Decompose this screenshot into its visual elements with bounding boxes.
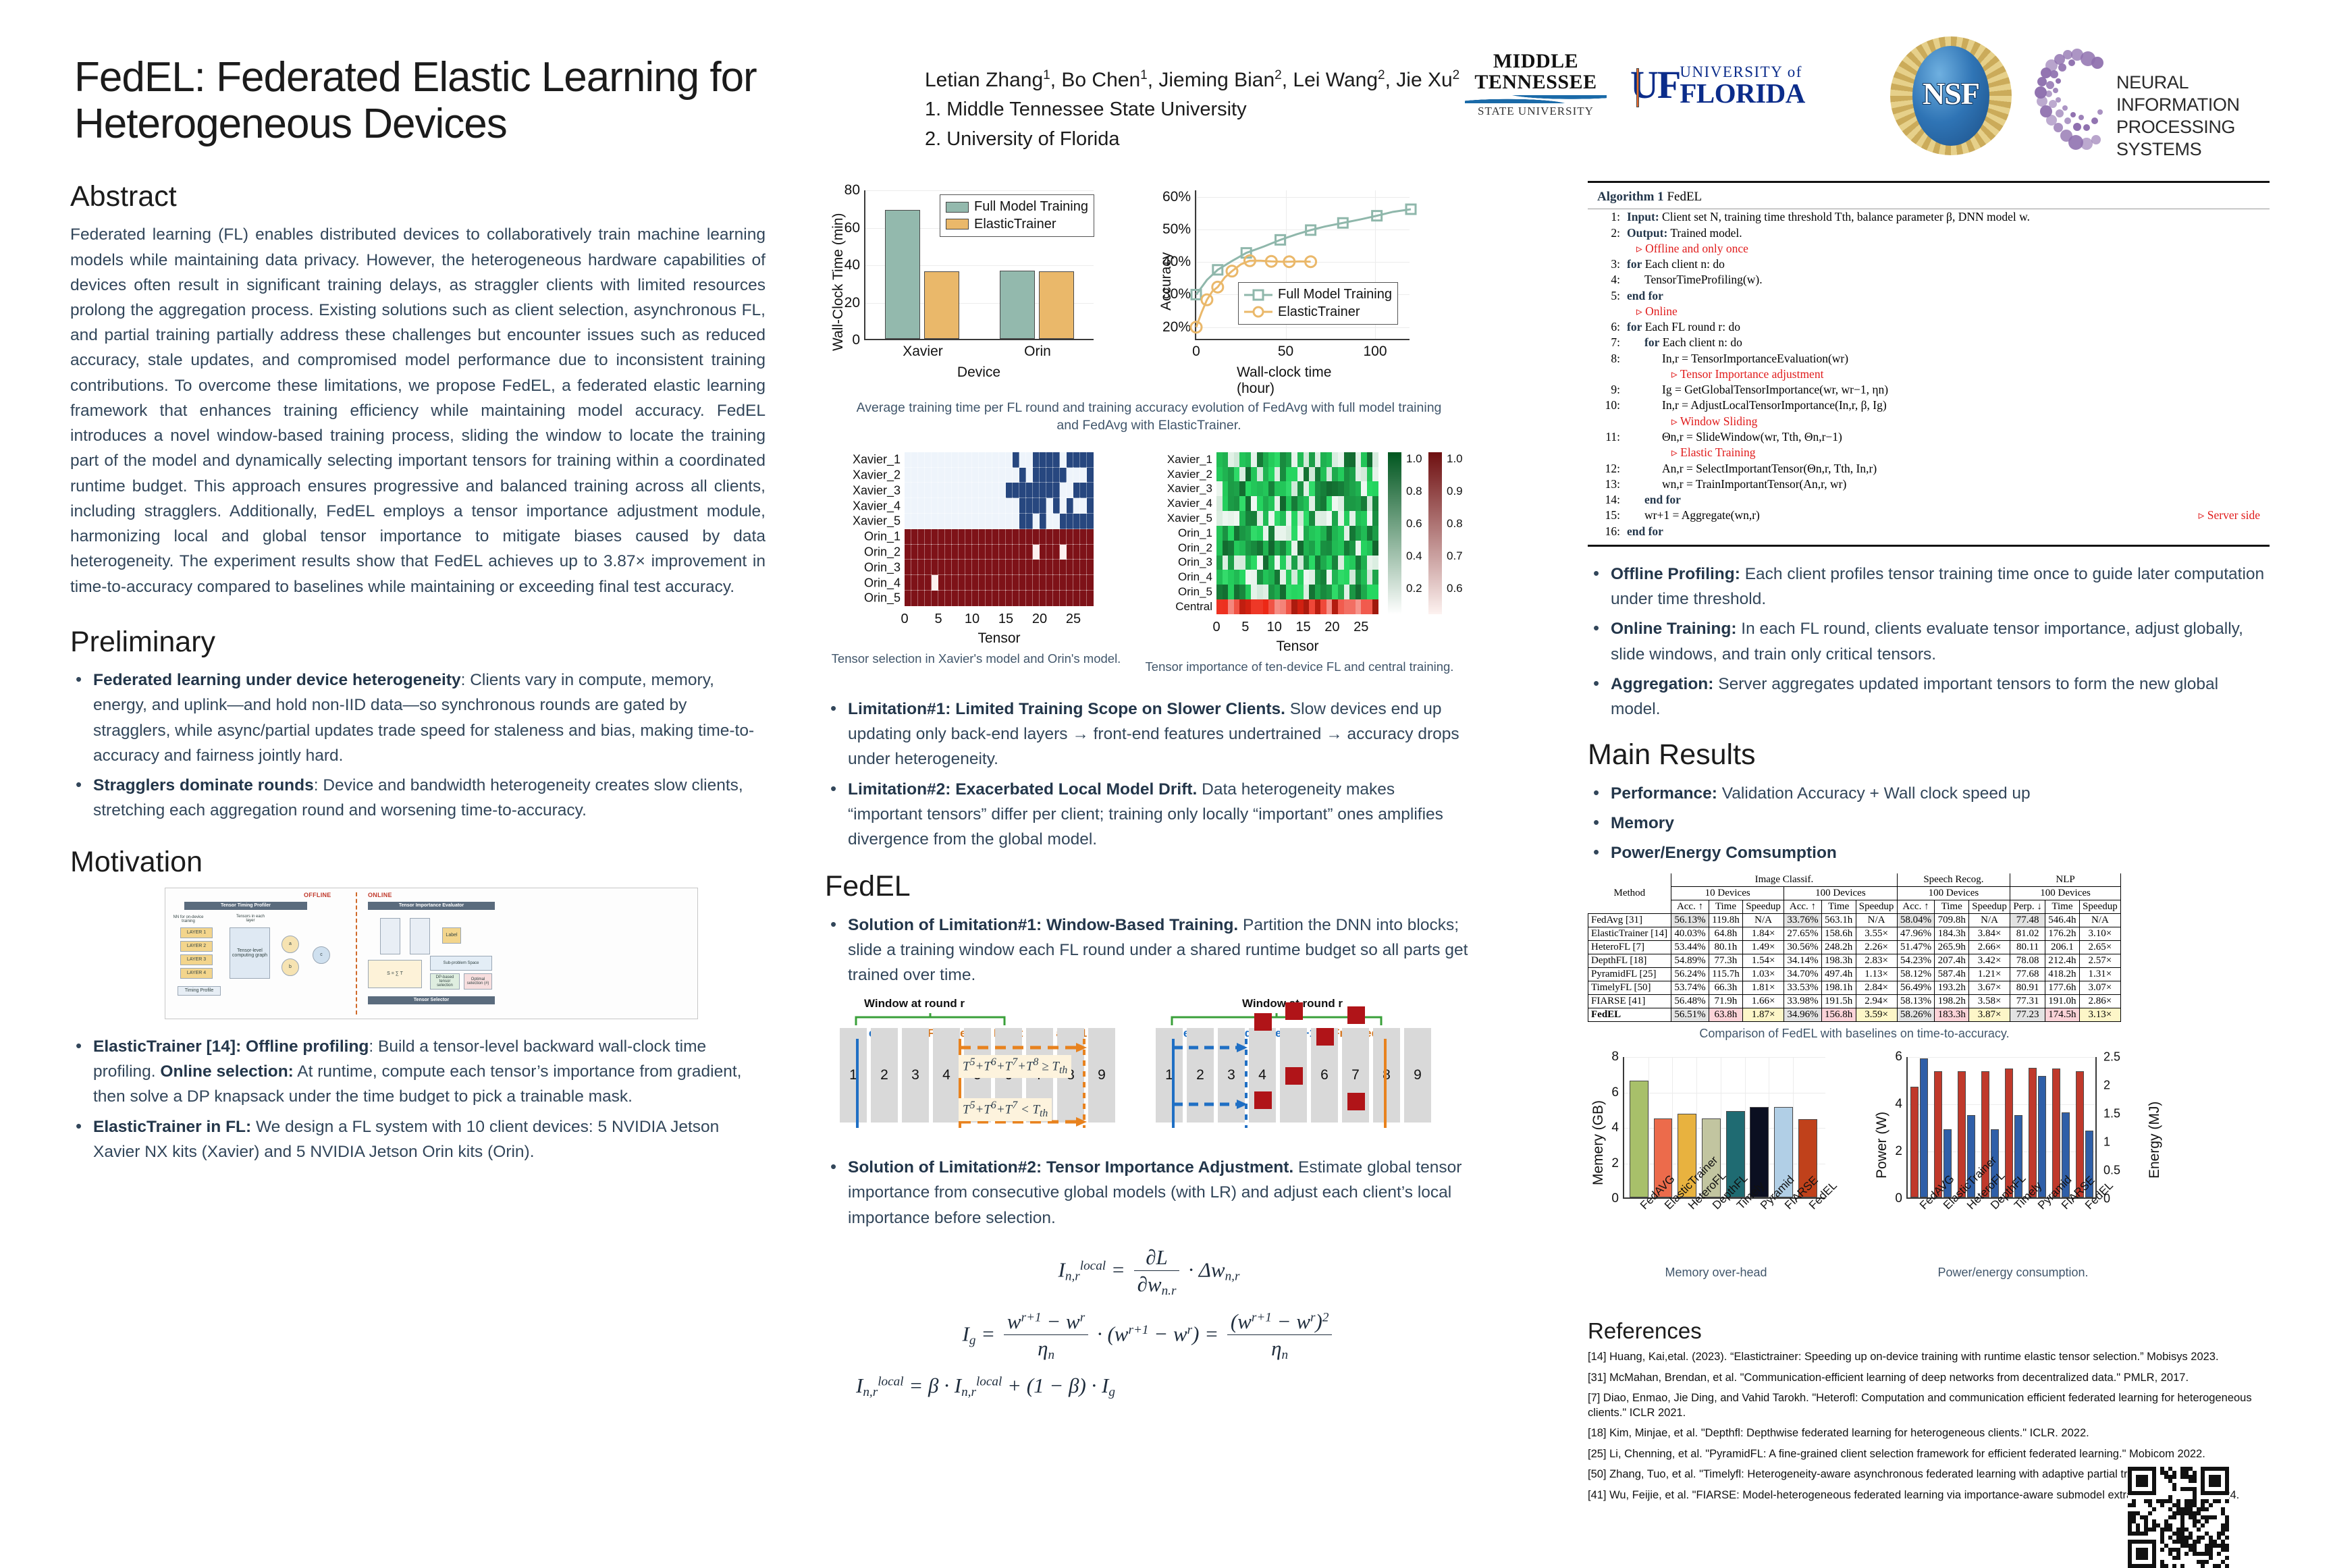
heatmap-cell [952, 514, 959, 529]
heatmap-cell [938, 514, 945, 529]
heatmap-cell [1080, 545, 1087, 560]
table-cell: 1.81× [1742, 981, 1784, 995]
heatmap-cell [1263, 481, 1269, 496]
colorbar-tick: 0.6 [1406, 517, 1422, 531]
table-cell: 34.96% [1784, 1008, 1822, 1022]
bullet-lead: ElasticTrainer in FL: [93, 1118, 251, 1136]
heatmap-cell [1234, 526, 1240, 541]
y-axis-tick: 8 [1611, 1050, 1619, 1064]
heatmap-cell [1332, 481, 1338, 496]
heatmap-row-label: Orin_3 [829, 560, 901, 574]
heatmap-cell [1263, 570, 1269, 585]
heatmap-cell [1013, 468, 1019, 483]
table-cell: 34.14% [1784, 954, 1822, 968]
table-metric-header: Acc. ↑ [1671, 900, 1709, 914]
heatmap-cell [1338, 585, 1344, 599]
table-cell: 64.8h [1709, 927, 1742, 941]
figure-online-label: ONLINE [368, 892, 392, 898]
heatmap-cell [952, 483, 959, 498]
heatmap-cell [932, 591, 938, 606]
heatmap-cell [1006, 452, 1013, 468]
table-cell: 198.2h [1935, 995, 1969, 1008]
heatmap-cell [1251, 511, 1257, 526]
algorithm-line-number: 4: [1597, 272, 1620, 288]
heatmap-cell [1304, 511, 1310, 526]
equation-block: In,rlocal = ∂L∂wn.r · Δwn,r Ig = wr+1 − … [825, 1245, 1473, 1399]
heatmap-cell [1087, 468, 1094, 483]
heatmap-cell [1019, 545, 1026, 560]
figure-layer-box: LAYER 2 [180, 941, 213, 952]
heatmap-cell [1263, 452, 1269, 467]
heatmap-cell [918, 545, 925, 560]
chart-y-label-left: Power (W) [1874, 1112, 1890, 1179]
table-cell: 156.8h [1821, 1008, 1856, 1022]
x-axis-tick: 0 [1192, 344, 1200, 360]
heatmap-cell [1275, 481, 1281, 496]
heatmap-cell [1019, 591, 1026, 606]
heatmap-cell [1344, 599, 1350, 614]
fedel-solution-2: Solution of Limitation#2: Tensor Importa… [825, 1155, 1473, 1231]
heatmap-cell [1026, 575, 1033, 591]
heatmap-cell [1060, 514, 1067, 529]
heatmap-row-label: Orin_4 [829, 576, 901, 590]
heatmap-cell [979, 468, 986, 483]
heatmap-cell [1046, 468, 1053, 483]
heatmap-cell [911, 560, 918, 575]
heatmap-cell [1026, 514, 1033, 529]
chart-x-label: Tensor [1276, 639, 1318, 655]
heatmap-cell [952, 560, 959, 575]
table-cell: 81.02 [2010, 927, 2045, 941]
preliminary-heading: Preliminary [70, 626, 766, 658]
y-axis-tick: 2 [1611, 1156, 1619, 1171]
heatmap-cell [932, 498, 938, 514]
heatmap-cell [1372, 570, 1378, 585]
algorithm-title-rest: FedEL [1667, 190, 1702, 204]
heatmap-cell [1361, 526, 1367, 541]
y-axis-tick: 20 [844, 295, 860, 311]
heatmap-cell [1080, 591, 1087, 606]
window-block: 2 [871, 1028, 898, 1123]
heatmap-cell [965, 529, 972, 545]
heatmap-cell [1291, 541, 1297, 556]
heatmap-cell [1361, 585, 1367, 599]
heatmap-cell [1315, 526, 1321, 541]
heatmap-cell [1349, 599, 1356, 614]
heatmap-cell [1053, 529, 1060, 545]
heatmap-cell [1228, 570, 1234, 585]
x-axis-tick: 0 [901, 612, 908, 627]
bar-power [1910, 1087, 1919, 1198]
heatmap-cell [1040, 591, 1046, 606]
table-metric-header: Time [1709, 900, 1742, 914]
heatmap-cell [1073, 545, 1080, 560]
heatmap-cell [992, 545, 999, 560]
heatmap-cell [925, 591, 932, 606]
list-item: Offline Profiling: Each client profiles … [1588, 562, 2270, 612]
heatmap-cell [1053, 498, 1060, 514]
heatmap-cell [1361, 570, 1367, 585]
figure-node-circle: c [313, 946, 330, 964]
heatmap-row-label: Xavier_3 [829, 483, 901, 497]
heatmap-cell [986, 545, 992, 560]
heatmap-cell [959, 498, 965, 514]
heatmap-cell [1349, 511, 1356, 526]
heatmap-cell [1239, 585, 1245, 599]
heatmap-cell [1053, 591, 1060, 606]
list-item: Limitation#1: Limited Training Scope on … [825, 697, 1473, 772]
heatmap-cell [1326, 467, 1333, 482]
list-item: Power/Energy Comsumption [1588, 840, 2270, 865]
algorithm-line-number: 3: [1597, 256, 1620, 272]
heatmap-cell [1263, 541, 1269, 556]
heatmap-cell [1275, 511, 1281, 526]
table-cell: 77.48 [2010, 914, 2045, 927]
algorithm-keyword: for [1627, 320, 1642, 333]
heatmap-cell [1286, 511, 1292, 526]
heatmap-cell [1073, 529, 1080, 545]
table-cell: 53.44% [1671, 941, 1709, 954]
heatmap-cell [1304, 556, 1310, 570]
heatmap-cell [1268, 585, 1275, 599]
heatmap-cell [1013, 545, 1019, 560]
table-cell: 40.03% [1671, 927, 1709, 941]
table-cell: 115.7h [1709, 968, 1742, 981]
legend-item: Full Model Training [946, 198, 1088, 216]
heatmap-cell [1080, 575, 1087, 591]
heatmap-cell [1326, 599, 1333, 614]
heatmap-cell [1361, 599, 1367, 614]
heatmap-cell [1286, 496, 1292, 511]
table-cell: 418.2h [2045, 968, 2080, 981]
figure-box-tensor-selector: Tensor Selector [368, 996, 495, 1004]
heatmap-cell [1073, 498, 1080, 514]
uf-line-2: FLORIDA [1680, 81, 1805, 107]
y-axis-tick: 0 [1611, 1191, 1619, 1206]
table-metric-header: Time [1935, 900, 1969, 914]
memory-chart-caption: Memory over-head [1588, 1265, 1844, 1281]
nsf-wordmark: NSF [1890, 76, 2012, 111]
heatmap-cell [1251, 481, 1257, 496]
table-group-header: Speech Recog. [1897, 873, 2010, 887]
table-cell: 191.0h [2045, 995, 2080, 1008]
bar [1000, 271, 1035, 339]
heatmap-cell [1297, 481, 1304, 496]
list-item: Limitation#2: Exacerbated Local Model Dr… [825, 777, 1473, 853]
heatmap-cell [1234, 496, 1240, 511]
heatmap-cell [1309, 541, 1315, 556]
heatmap-cell [952, 498, 959, 514]
heatmap-cell [1338, 556, 1344, 570]
heatmap-cell [1087, 483, 1094, 498]
legend-swatch [946, 202, 969, 213]
heatmap-cell [1326, 496, 1333, 511]
heatmap-cell [1356, 541, 1362, 556]
heatmap-cell [1280, 541, 1286, 556]
heatmap-cell [905, 514, 911, 529]
heatmap-cell [1361, 556, 1367, 570]
heatmap-cell [1297, 541, 1304, 556]
table-cell: 212.4h [2045, 954, 2080, 968]
table-metric-header: Speedup [1969, 900, 2010, 914]
figure-nn-stack [380, 918, 400, 954]
heatmap-cell [1297, 452, 1304, 467]
heatmap-cell [1040, 545, 1046, 560]
table-device-header: 100 Devices [2010, 887, 2121, 900]
table-cell: 77.3h [1709, 954, 1742, 968]
heatmap-cell [1257, 452, 1263, 467]
heatmap-cell [911, 514, 918, 529]
heatmap-cell [1372, 467, 1378, 482]
heatmap-cell [1349, 585, 1356, 599]
bar [1630, 1081, 1648, 1197]
heatmap-cell [1245, 452, 1252, 467]
algorithm-line: 1:Input: Client set N, training time thr… [1588, 209, 2270, 225]
heatmap-cell [938, 529, 945, 545]
x-axis-tick: 25 [1066, 612, 1081, 627]
figure-label-tensors: Tensors in each layer [233, 913, 268, 925]
heatmap-cell [1073, 575, 1080, 591]
heatmap-cell [1367, 481, 1373, 496]
heatmap-cell [1356, 599, 1362, 614]
logo-strip: MIDDLE TENNESSEE STATE UNIVERSITY UF UNI… [1465, 42, 2295, 150]
heatmap-cell [1060, 529, 1067, 545]
heatmap-cell [1251, 585, 1257, 599]
bullet-lead: Performance: [1611, 784, 1717, 803]
heatmap-cell [1275, 452, 1281, 467]
heatmap-cell [1080, 483, 1087, 498]
heatmap-cell [1223, 481, 1229, 496]
heatmap-cell [938, 483, 945, 498]
algorithm-comment: ▹ Elastic Training [1671, 445, 1755, 460]
heatmap-cell [1338, 452, 1344, 467]
reference-item: [7] Diao, Enmao, Jie Ding, and Vahid Tar… [1588, 1391, 2270, 1420]
algorithm-line-number [1597, 304, 1620, 319]
heatmap-row-label: Xavier_5 [1142, 512, 1212, 525]
heatmap-row-label: Orin_2 [1142, 541, 1212, 555]
heatmap-cell [925, 452, 932, 468]
heatmap-cell [1245, 570, 1252, 585]
heatmap-cell [1367, 526, 1373, 541]
table-cell: 563.1h [1821, 914, 1856, 927]
table-metric-header: Speedup [1856, 900, 1897, 914]
algorithm-line-number: 14: [1597, 492, 1620, 508]
end-edge-marker [856, 1039, 859, 1128]
algorithm-line: 16:end for [1588, 524, 2270, 539]
heatmap-cell [925, 545, 932, 560]
heatmap-cell [1245, 496, 1252, 511]
heatmap-cell [1291, 511, 1297, 526]
column-middle: Wall-Clock Time (min) 020406080XavierOri… [825, 181, 1473, 1410]
table-cell: 1.66× [1742, 995, 1784, 1008]
wallclock-bar-chart: Wall-Clock Time (min) 020406080XavierOri… [825, 181, 1129, 383]
bullet-lead: Solution of Limitation#2: Tensor Importa… [848, 1158, 1293, 1177]
heatmap-row-label: Orin_5 [829, 591, 901, 605]
algorithm-line-number: 6: [1597, 319, 1620, 335]
heatmap-cell [1326, 526, 1333, 541]
heatmap-cell [1245, 541, 1252, 556]
table-cell: 2.86× [2079, 995, 2120, 1008]
heatmap-cell [1304, 467, 1310, 482]
heatmap-cell [1216, 570, 1223, 585]
table-cell: 56.13% [1671, 914, 1709, 927]
heatmap-cell [918, 575, 925, 591]
heatmap-cell [1315, 556, 1321, 570]
heatmap-cell [1320, 452, 1326, 467]
heatmap-cell [959, 545, 965, 560]
heatmap-row-label: Orin_2 [829, 545, 901, 560]
figure-compute-graph: Tensor-level computing graph [230, 927, 270, 979]
heatmap-cell [1019, 575, 1026, 591]
table-cell: 198.3h [1821, 954, 1856, 968]
heatmap-cell [1026, 452, 1033, 468]
heatmap-cell [1367, 541, 1373, 556]
heatmap-cell [1286, 541, 1292, 556]
heatmap-cell [1332, 570, 1338, 585]
heatmap-cell [1257, 496, 1263, 511]
heatmap-cell [1349, 570, 1356, 585]
heatmap-cell [986, 452, 992, 468]
bullet-lead: Offline Profiling: [1611, 565, 1740, 583]
affiliation-1: 1. Middle Tennessee State University [925, 95, 1465, 125]
heatmap-cell [1223, 452, 1229, 467]
heatmap-cell [1080, 468, 1087, 483]
algorithm-line: ▹ Tensor Importance adjustment [1588, 367, 2270, 382]
bar [924, 271, 959, 339]
page-title: FedEL: Federated Elastic Learning for He… [74, 54, 905, 148]
arrow-right-icon [960, 1043, 1088, 1052]
table-row: FIARSE [41]56.48%71.9h1.66×33.98%191.5h2… [1588, 995, 2121, 1008]
heatmap-cell [1013, 575, 1019, 591]
heatmap-cell [1053, 575, 1060, 591]
results-table-caption: Comparison of FedEL with baselines on ti… [1588, 1026, 2121, 1042]
heatmap-cell [1338, 481, 1344, 496]
heatmap-cell [1060, 483, 1067, 498]
list-item: Online Training: In each FL round, clien… [1588, 616, 2270, 666]
heatmap-cell [1067, 483, 1073, 498]
arrow-right-icon [1173, 1043, 1249, 1052]
heatmap-cell [1361, 496, 1367, 511]
algorithm-line-number: 13: [1597, 477, 1620, 492]
heatmap-cell [1087, 452, 1094, 468]
equation-local-importance: In,rlocal = ∂L∂wn.r · Δwn,r [825, 1245, 1473, 1299]
table-cell-method: FIARSE [41] [1588, 995, 1671, 1008]
table-cell: 1.31× [2079, 968, 2120, 981]
heatmap-cell [1040, 529, 1046, 545]
heatmap-cell [1326, 556, 1333, 570]
figure-box-importance-evaluator: Tensor Importance Evaluator [368, 902, 495, 910]
neurips-dots-icon [2035, 47, 2116, 142]
heatmap-cell [1275, 599, 1281, 614]
y-axis-tick-right: 0 [2103, 1192, 2110, 1206]
heatmap-cell [1053, 560, 1060, 575]
y-axis-tick-right: 1.5 [2103, 1107, 2120, 1121]
bar-energy [1920, 1058, 1928, 1197]
heatmap-cell [1006, 529, 1013, 545]
heatmap-row-label: Orin_1 [829, 530, 901, 544]
poster-header: FedEL: Federated Elastic Learning for He… [0, 0, 2333, 169]
heatmap-cell [1228, 467, 1234, 482]
table-cell: 2.84× [1856, 981, 1897, 995]
heatmap-cell [1060, 560, 1067, 575]
table-cell-method: PyramidFL [25] [1588, 968, 1671, 981]
heatmap-cell [1367, 556, 1373, 570]
algorithm-line: 9:Ig = GetGlobalTensorImportance(wr, wr−… [1588, 382, 2270, 398]
preliminary-list: Federated learning under device heteroge… [70, 668, 766, 823]
algorithm-comment: ▹ Window Sliding [1671, 414, 1757, 429]
heatmap-cell [1280, 585, 1286, 599]
heatmap-cell [1286, 585, 1292, 599]
heatmap-cell [1326, 452, 1333, 467]
colorbar-tick: 0.8 [1447, 517, 1463, 531]
heatmap-cell [945, 529, 952, 545]
heatmap-cell [1280, 599, 1286, 614]
heatmap-cell [972, 483, 979, 498]
heatmap-cell [1087, 545, 1094, 560]
algorithm-statement: Output: Trained model. [1627, 225, 1742, 241]
heatmap-cell [1361, 511, 1367, 526]
algorithm-line: ▹ Elastic Training [1588, 445, 2270, 460]
heatmap-cell [1372, 496, 1378, 511]
table-row: FedEL56.51%63.8h1.87×34.96%156.8h3.59×58… [1588, 1008, 2121, 1022]
table-cell: 184.3h [1935, 927, 1969, 941]
heatmap-cell [1040, 452, 1046, 468]
heatmap-cell [1046, 498, 1053, 514]
heatmap-cell [1033, 452, 1040, 468]
table-cell: 3.58× [1969, 995, 2010, 1008]
heatmap-cell [1033, 468, 1040, 483]
table-cell: 51.47% [1897, 941, 1935, 954]
heatmap-cell [1251, 496, 1257, 511]
heatmap-cell [1013, 529, 1019, 545]
table-cell: 1.54× [1742, 954, 1784, 968]
heatmap-cell [1019, 514, 1026, 529]
heatmap-cell [965, 483, 972, 498]
x-axis-tick: 0 [1212, 620, 1220, 635]
y-axis-tick: 80 [844, 182, 860, 198]
table-cell: 2.57× [2079, 954, 2120, 968]
heatmap-cell [1234, 452, 1240, 467]
heatmap-cell [1033, 498, 1040, 514]
heatmap-cell [911, 452, 918, 468]
heatmap-cell [932, 452, 938, 468]
heatmap-cell [1344, 526, 1350, 541]
chart-x-label: Tensor [977, 630, 1020, 647]
algorithm-statement: Θn,r = SlideWindow(wr, Tth, Θn,r−1) [1662, 429, 1842, 445]
heatmap-cell [1046, 529, 1053, 545]
heatmap-cell [1234, 541, 1240, 556]
heatmap-cell [1087, 529, 1094, 545]
abstract-heading: Abstract [70, 181, 766, 213]
list-item: Memory [1588, 811, 2270, 836]
heatmap-cell [945, 545, 952, 560]
heatmap-cell [1067, 514, 1073, 529]
heatmap-cell [1332, 541, 1338, 556]
heatmap-cell [1286, 526, 1292, 541]
heatmap-cell [1304, 585, 1310, 599]
heatmap-cell [1315, 585, 1321, 599]
heatmap-cell [1356, 511, 1362, 526]
heatmap-cell [1338, 496, 1344, 511]
heatmap-cell [1291, 585, 1297, 599]
qr-code[interactable] [2128, 1467, 2229, 1568]
heatmap-cell [1013, 591, 1019, 606]
heatmap-cell [1309, 599, 1315, 614]
heatmap-cell [1006, 575, 1013, 591]
heatmap-cell [925, 560, 932, 575]
motivation-system-figure: OFFLINE ONLINE Tensor Timing Profiler Te… [165, 888, 698, 1019]
algorithm-statement: Ig = GetGlobalTensorImportance(wr, wr−1,… [1662, 382, 1888, 398]
